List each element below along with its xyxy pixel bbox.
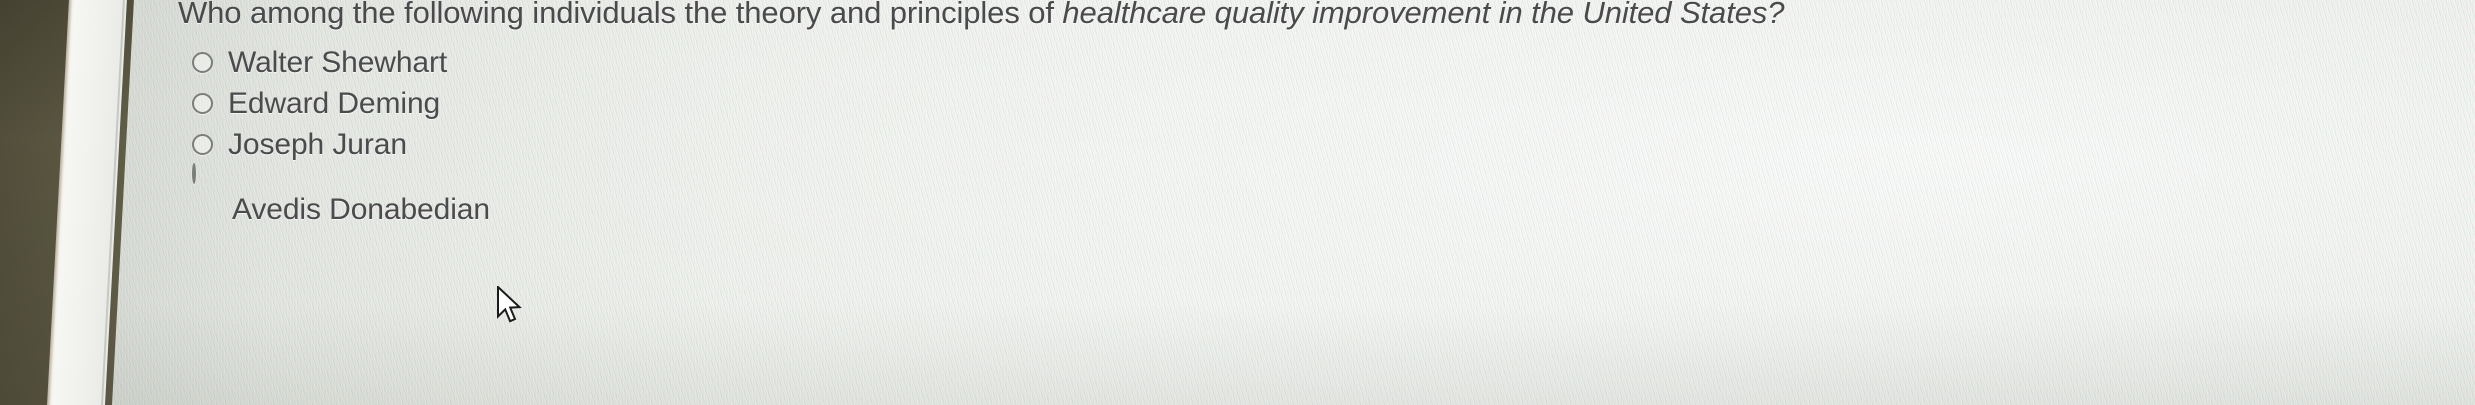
- option-row-3[interactable]: Joseph Juran: [192, 124, 490, 165]
- option-label-3[interactable]: Joseph Juran: [228, 128, 407, 162]
- option-row-2[interactable]: Edward Deming: [192, 83, 490, 124]
- question-content: Who among the following individuals the …: [0, 0, 2475, 405]
- option-label-2[interactable]: Edward Deming: [228, 87, 440, 121]
- question-lead: Who among the following individuals the …: [178, 0, 1062, 30]
- options-list: Walter Shewhart Edward Deming Joseph Jur…: [192, 42, 490, 227]
- radio-button-icon-1[interactable]: [192, 52, 213, 73]
- option-label-4[interactable]: Avedis Donabedian: [232, 193, 490, 227]
- arrow-pointer-icon: [496, 286, 522, 326]
- question-emphasis: healthcare quality improvement in the Un…: [1062, 0, 1784, 30]
- radio-button-icon-2[interactable]: [192, 93, 213, 114]
- option-row-1[interactable]: Walter Shewhart: [192, 42, 490, 83]
- screenshot-root: Who among the following individuals the …: [0, 0, 2475, 405]
- option-label-1[interactable]: Walter Shewhart: [228, 46, 447, 80]
- radio-button-icon-3[interactable]: [192, 134, 213, 155]
- question-text: Who among the following individuals the …: [178, 0, 2438, 31]
- option-row-4[interactable]: Avedis Donabedian: [192, 165, 490, 227]
- radio-button-icon-4[interactable]: [192, 163, 196, 184]
